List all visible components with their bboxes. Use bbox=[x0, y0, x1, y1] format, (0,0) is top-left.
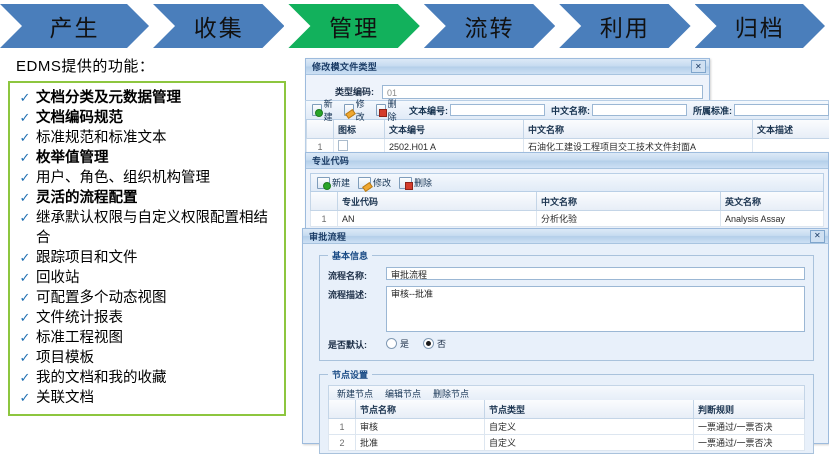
check-icon: ✓ bbox=[14, 108, 36, 128]
node-settings-group: 节点设置 新建节点 编辑节点 删除节点 节点名称 节点类型 判断规则 bbox=[319, 374, 814, 454]
standard-filter-input[interactable] bbox=[734, 104, 829, 116]
edit-button-label: 修改 bbox=[373, 176, 391, 189]
row-cn-name: 分析化验 bbox=[537, 211, 721, 227]
new-button-label: 新建 bbox=[324, 97, 336, 123]
check-icon: ✓ bbox=[14, 148, 36, 168]
check-icon: ✓ bbox=[14, 388, 36, 408]
list-item: ✓ 项目模板 bbox=[14, 348, 280, 368]
delete-button[interactable]: 删除 bbox=[373, 97, 403, 123]
list-item-label: 文件统计报表 bbox=[36, 308, 280, 328]
process-step-2[interactable]: 管理 bbox=[288, 4, 419, 48]
cn-name-filter: 中文名称: bbox=[551, 104, 687, 117]
process-step-label: 流转 bbox=[465, 9, 515, 43]
col-desc: 文本描述 bbox=[753, 120, 829, 139]
table-row[interactable]: 2 批准 自定义 一票通过/一票否决 bbox=[329, 435, 805, 451]
radio-icon bbox=[423, 338, 434, 349]
text-code-filter-label: 文本编号: bbox=[409, 104, 448, 117]
col-node-type: 节点类型 bbox=[485, 400, 694, 419]
row-index: 2 bbox=[329, 435, 356, 451]
features-panel: EDMS提供的功能： ✓ 文档分类及元数据管理 ✓ 文档编码规范 ✓ 标准规范和… bbox=[8, 55, 298, 416]
row-major-code: AN bbox=[338, 211, 537, 227]
list-item-label: 用户、角色、组织机构管理 bbox=[36, 168, 280, 188]
process-step-label: 产生 bbox=[50, 9, 100, 43]
list-item-label: 文档分类及元数据管理 bbox=[36, 88, 280, 108]
table-row[interactable]: 1 AN 分析化验 Analysis Assay bbox=[311, 211, 824, 227]
row-en-name: Analysis Assay bbox=[721, 211, 824, 227]
row-node-name: 审核 bbox=[356, 419, 485, 435]
row-rule: 一票通过/一票否决 bbox=[694, 419, 805, 435]
row-node-type: 自定义 bbox=[485, 435, 694, 451]
check-icon: ✓ bbox=[14, 168, 36, 188]
col-rule: 判断规则 bbox=[694, 400, 805, 419]
radio-yes-label: 是 bbox=[400, 337, 409, 350]
list-item: ✓ 标准工程视图 bbox=[14, 328, 280, 348]
document-icon bbox=[338, 140, 348, 151]
edit-icon bbox=[344, 104, 354, 116]
list-item: ✓ 用户、角色、组织机构管理 bbox=[14, 168, 280, 188]
col-cn-name: 中文名称 bbox=[524, 120, 753, 139]
major-code-grid: 专业代码 中文名称 英文名称 1 AN 分析化验 Analysis Assay bbox=[310, 192, 824, 227]
list-item-label: 枚举值管理 bbox=[36, 148, 280, 168]
radio-yes[interactable]: 是 bbox=[386, 337, 409, 350]
list-item: ✓ 灵活的流程配置 bbox=[14, 188, 280, 208]
table-row[interactable]: 1 审核 自定义 一票通过/一票否决 bbox=[329, 419, 805, 435]
new-button-label: 新建 bbox=[332, 176, 350, 189]
file-type-grid-wrap: 图标 文本编号 中文名称 文本描述 1 2502.H01 A 石油化工建设工程项… bbox=[305, 120, 829, 156]
list-item: ✓ 文档编码规范 bbox=[14, 108, 280, 128]
dialog-title: 审批流程 bbox=[309, 230, 810, 243]
radio-icon bbox=[386, 338, 397, 349]
edit-node-button[interactable]: 编辑节点 bbox=[385, 387, 421, 400]
delete-icon bbox=[376, 104, 386, 116]
col-major-code: 专业代码 bbox=[338, 192, 537, 211]
delete-button[interactable]: 删除 bbox=[396, 176, 435, 189]
list-item-label: 标准工程视图 bbox=[36, 328, 280, 348]
standard-filter-label: 所属标准: bbox=[693, 104, 732, 117]
close-icon[interactable]: ✕ bbox=[810, 230, 825, 243]
col-index bbox=[329, 400, 356, 419]
file-type-grid: 图标 文本编号 中文名称 文本描述 1 2502.H01 A 石油化工建设工程项… bbox=[306, 120, 829, 155]
col-index bbox=[311, 192, 338, 211]
check-icon: ✓ bbox=[14, 368, 36, 388]
dialog-title-bar[interactable]: 专业代码 bbox=[306, 153, 828, 169]
node-toolbar: 新建节点 编辑节点 删除节点 bbox=[328, 385, 805, 400]
check-icon: ✓ bbox=[14, 188, 36, 208]
new-button[interactable]: 新建 bbox=[314, 176, 353, 189]
edms-caption: EDMS提供的功能： bbox=[16, 55, 298, 76]
edit-button[interactable]: 修改 bbox=[341, 97, 371, 123]
dialog-title-bar[interactable]: 修改模文件类型 ✕ bbox=[306, 59, 709, 75]
list-item: ✓ 关联文档 bbox=[14, 388, 280, 408]
process-step-3[interactable]: 流转 bbox=[424, 4, 555, 48]
list-item: ✓ 我的文档和我的收藏 bbox=[14, 368, 280, 388]
major-code-dialog: 专业代码 新建 修改 删除 专业代码 中文名称 英文名称 bbox=[305, 152, 829, 237]
dialog-title: 修改模文件类型 bbox=[312, 60, 691, 73]
list-item: ✓ 继承默认权限与自定义权限配置相结合 bbox=[14, 208, 280, 248]
type-code-input[interactable]: 01 bbox=[382, 85, 703, 99]
process-step-label: 管理 bbox=[329, 9, 379, 43]
delete-icon bbox=[399, 177, 412, 189]
row-index: 1 bbox=[311, 211, 338, 227]
is-default-radio-group: 是 否 bbox=[386, 336, 456, 350]
edit-button[interactable]: 修改 bbox=[355, 176, 394, 189]
flow-name-row: 流程名称: 审批流程 bbox=[328, 267, 805, 282]
process-step-1[interactable]: 收集 bbox=[153, 4, 284, 48]
dialog-body: 基本信息 流程名称: 审批流程 流程描述: 审核--批准 是否默认: 是 bbox=[303, 244, 828, 454]
basic-info-title: 基本信息 bbox=[328, 249, 372, 262]
table-header-row: 专业代码 中文名称 英文名称 bbox=[311, 192, 824, 211]
col-node-name: 节点名称 bbox=[356, 400, 485, 419]
list-item-label: 回收站 bbox=[36, 268, 280, 288]
file-type-toolbar: 新建 修改 删除 文本编号: 中文名称: 所属标准: bbox=[305, 100, 829, 120]
list-item: ✓ 跟踪项目和文件 bbox=[14, 248, 280, 268]
dialog-title-bar[interactable]: 审批流程 ✕ bbox=[303, 229, 828, 244]
radio-no[interactable]: 否 bbox=[423, 337, 446, 350]
dialog-body: 新建 修改 删除 专业代码 中文名称 英文名称 bbox=[306, 169, 828, 227]
new-button[interactable]: 新建 bbox=[309, 97, 339, 123]
edit-button-label: 修改 bbox=[356, 97, 368, 123]
check-icon: ✓ bbox=[14, 288, 36, 308]
check-icon: ✓ bbox=[14, 208, 36, 228]
row-index: 1 bbox=[329, 419, 356, 435]
list-item-label: 我的文档和我的收藏 bbox=[36, 368, 280, 388]
feature-list-box: ✓ 文档分类及元数据管理 ✓ 文档编码规范 ✓ 标准规范和标准文本 ✓ 枚举值管… bbox=[8, 81, 286, 416]
process-step-0[interactable]: 产生 bbox=[0, 4, 149, 48]
table-header-row: 节点名称 节点类型 判断规则 bbox=[329, 400, 805, 419]
list-item: ✓ 枚举值管理 bbox=[14, 148, 280, 168]
list-item-label: 项目模板 bbox=[36, 348, 280, 368]
col-cn-name: 中文名称 bbox=[537, 192, 721, 211]
delete-button-label: 删除 bbox=[388, 97, 400, 123]
major-toolbar: 新建 修改 删除 bbox=[310, 173, 824, 192]
list-item-label: 灵活的流程配置 bbox=[36, 188, 280, 208]
process-step-label: 收集 bbox=[194, 9, 244, 43]
list-item: ✓ 文件统计报表 bbox=[14, 308, 280, 328]
is-default-row: 是否默认: 是 否 bbox=[328, 336, 805, 351]
flow-name-label: 流程名称: bbox=[328, 267, 386, 282]
close-icon[interactable]: ✕ bbox=[691, 60, 706, 73]
process-step-label: 归档 bbox=[735, 9, 785, 43]
node-settings-title: 节点设置 bbox=[328, 368, 372, 381]
col-en-name: 英文名称 bbox=[721, 192, 824, 211]
file-type-toolbar-wrap: 新建 修改 删除 文本编号: 中文名称: 所属标准: bbox=[305, 100, 829, 120]
text-code-filter-input[interactable] bbox=[450, 104, 545, 116]
process-step-4[interactable]: 利用 bbox=[559, 4, 690, 48]
list-item-label: 标准规范和标准文本 bbox=[36, 128, 280, 148]
list-item: ✓ 标准规范和标准文本 bbox=[14, 128, 280, 148]
list-item-label: 跟踪项目和文件 bbox=[36, 248, 280, 268]
is-default-label: 是否默认: bbox=[328, 336, 386, 351]
process-step-5[interactable]: 归档 bbox=[695, 4, 825, 48]
cn-name-filter-input[interactable] bbox=[592, 104, 687, 116]
new-icon bbox=[317, 177, 330, 189]
check-icon: ✓ bbox=[14, 328, 36, 348]
delete-button-label: 删除 bbox=[414, 176, 432, 189]
text-code-filter: 文本编号: bbox=[409, 104, 545, 117]
basic-info-group: 基本信息 流程名称: 审批流程 流程描述: 审核--批准 是否默认: 是 bbox=[319, 255, 814, 361]
check-icon: ✓ bbox=[14, 348, 36, 368]
delete-node-button[interactable]: 删除节点 bbox=[433, 387, 469, 400]
flow-name-input[interactable]: 审批流程 bbox=[386, 267, 805, 280]
row-rule: 一票通过/一票否决 bbox=[694, 435, 805, 451]
process-step-label: 利用 bbox=[600, 9, 650, 43]
dialog-title: 专业代码 bbox=[312, 154, 825, 167]
process-flow-banner: 产生 收集 管理 流转 利用 归档 bbox=[0, 4, 829, 48]
check-icon: ✓ bbox=[14, 268, 36, 288]
flow-desc-label: 流程描述: bbox=[328, 286, 386, 301]
list-item-label: 可配置多个动态视图 bbox=[36, 288, 280, 308]
check-icon: ✓ bbox=[14, 88, 36, 108]
list-item: ✓ 文档分类及元数据管理 bbox=[14, 88, 280, 108]
node-grid: 节点名称 节点类型 判断规则 1 审核 自定义 一票通过/一票否决 2 批准 bbox=[328, 400, 805, 451]
check-icon: ✓ bbox=[14, 128, 36, 148]
row-node-type: 自定义 bbox=[485, 419, 694, 435]
list-item-label: 关联文档 bbox=[36, 388, 280, 408]
list-item-label: 继承默认权限与自定义权限配置相结合 bbox=[36, 208, 280, 248]
list-item-label: 文档编码规范 bbox=[36, 108, 280, 128]
standard-filter: 所属标准: bbox=[693, 104, 829, 117]
workflow-dialog: 审批流程 ✕ 基本信息 流程名称: 审批流程 流程描述: 审核--批准 是否默认… bbox=[302, 228, 829, 444]
row-node-name: 批准 bbox=[356, 435, 485, 451]
list-item: ✓ 可配置多个动态视图 bbox=[14, 288, 280, 308]
cn-name-filter-label: 中文名称: bbox=[551, 104, 590, 117]
col-text-code: 文本编号 bbox=[385, 120, 524, 139]
new-node-button[interactable]: 新建节点 bbox=[337, 387, 373, 400]
flow-desc-row: 流程描述: 审核--批准 bbox=[328, 286, 805, 332]
new-icon bbox=[312, 104, 322, 116]
check-icon: ✓ bbox=[14, 308, 36, 328]
flow-desc-input[interactable]: 审核--批准 bbox=[386, 286, 805, 332]
radio-no-label: 否 bbox=[437, 337, 446, 350]
list-item: ✓ 回收站 bbox=[14, 268, 280, 288]
edit-icon bbox=[358, 177, 371, 189]
check-icon: ✓ bbox=[14, 248, 36, 268]
